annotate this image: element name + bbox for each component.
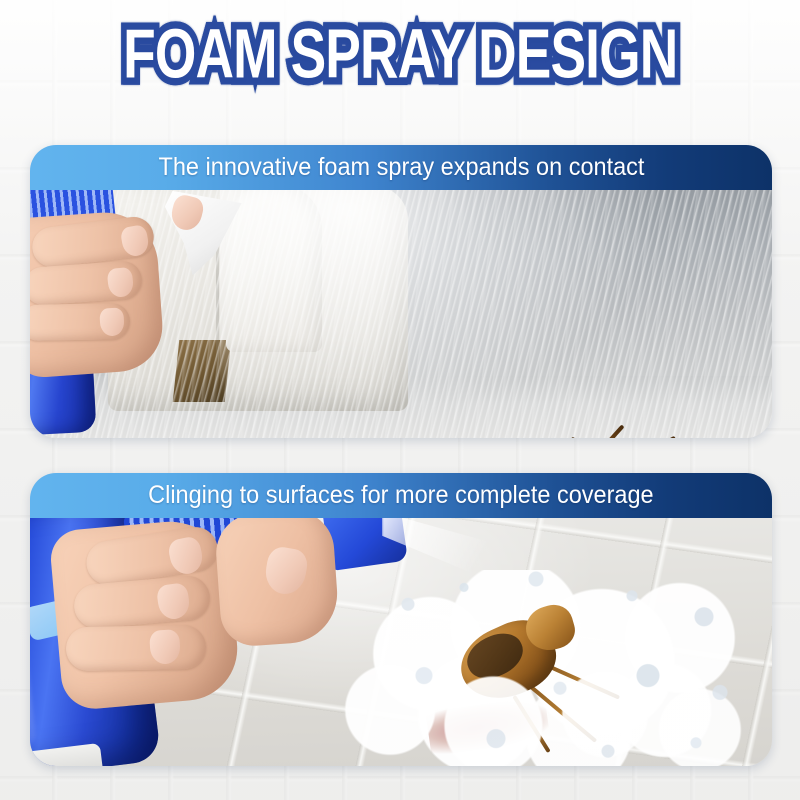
product-feature-poster: FOAM SPRAY DESIGN FOAM SPRAY DESIGN The … xyxy=(0,0,800,800)
card-banner-cling-coverage: Clinging to surfaces for more complete c… xyxy=(30,473,772,518)
headline-fill: FOAM SPRAY DESIGN xyxy=(123,20,677,89)
card-banner-label: The innovative foam spray expands on con… xyxy=(158,155,644,180)
card-banner-label: Clinging to surfaces for more complete c… xyxy=(148,483,653,508)
headline-stack: FOAM SPRAY DESIGN FOAM SPRAY DESIGN xyxy=(78,24,722,86)
finger-ring xyxy=(66,625,207,671)
card-banner-spray-contact: The innovative foam spray expands on con… xyxy=(30,145,772,190)
bottle-highlight xyxy=(30,554,36,745)
photo-spray-contact xyxy=(30,190,772,438)
page-title: FOAM SPRAY DESIGN FOAM SPRAY DESIGN xyxy=(0,24,800,86)
foam-bubbles xyxy=(360,558,760,766)
feature-card-spray-contact: The innovative foam spray expands on con… xyxy=(30,145,772,438)
feature-card-cling-coverage: Clinging to surfaces for more complete c… xyxy=(30,473,772,766)
photo-cling-coverage xyxy=(30,518,772,766)
